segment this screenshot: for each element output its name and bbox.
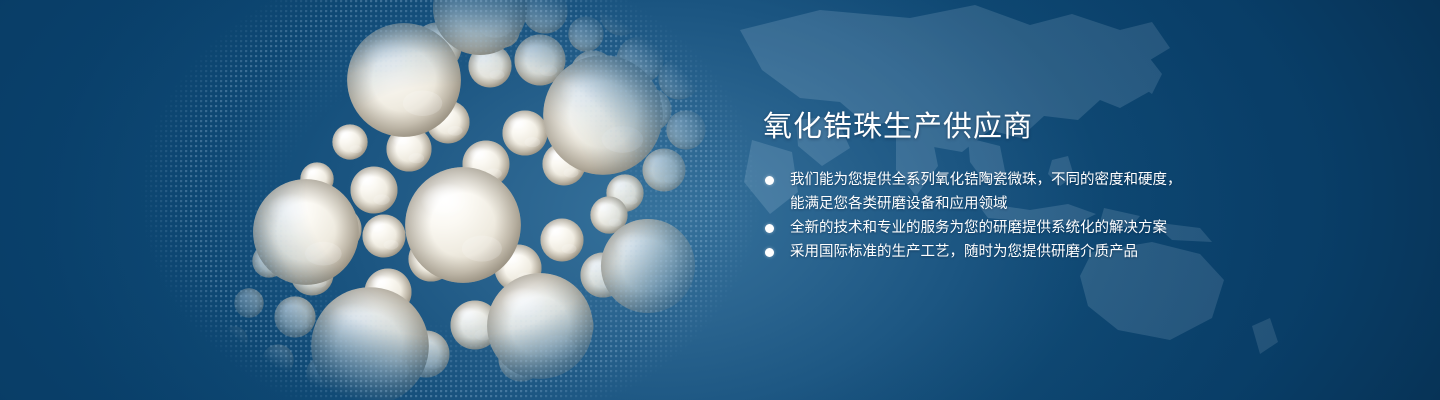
feature-list: 我们能为您提供全系列氧化锆陶瓷微珠，不同的密度和硬度， 能满足您各类研磨设备和应… (763, 168, 1403, 264)
list-item-line-2: 能满足您各类研磨设备和应用领域 (790, 192, 1403, 216)
dot-bullet-icon (765, 224, 774, 233)
dot-bullet-icon (765, 248, 774, 257)
hero-banner: 氧化锆珠生产供应商 我们能为您提供全系列氧化锆陶瓷微珠，不同的密度和硬度， 能满… (0, 0, 1440, 400)
list-item-line-1: 全新的技术和专业的服务为您的研磨提供系统化的解决方案 (790, 220, 1167, 236)
banner-copy: 氧化锆珠生产供应商 我们能为您提供全系列氧化锆陶瓷微珠，不同的密度和硬度， 能满… (763, 108, 1403, 264)
list-item-line-1: 我们能为您提供全系列氧化锆陶瓷微珠，不同的密度和硬度， (790, 172, 1182, 188)
list-item: 采用国际标准的生产工艺，随时为您提供研磨介质产品 (763, 240, 1403, 264)
list-item-line-1: 采用国际标准的生产工艺，随时为您提供研磨介质产品 (790, 244, 1138, 260)
page-title: 氧化锆珠生产供应商 (763, 108, 1403, 146)
list-item: 我们能为您提供全系列氧化锆陶瓷微珠，不同的密度和硬度， 能满足您各类研磨设备和应… (763, 168, 1403, 216)
list-item: 全新的技术和专业的服务为您的研磨提供系统化的解决方案 (763, 216, 1403, 240)
zirconia-beads-photo (150, 0, 730, 400)
dot-bullet-icon (765, 176, 774, 185)
